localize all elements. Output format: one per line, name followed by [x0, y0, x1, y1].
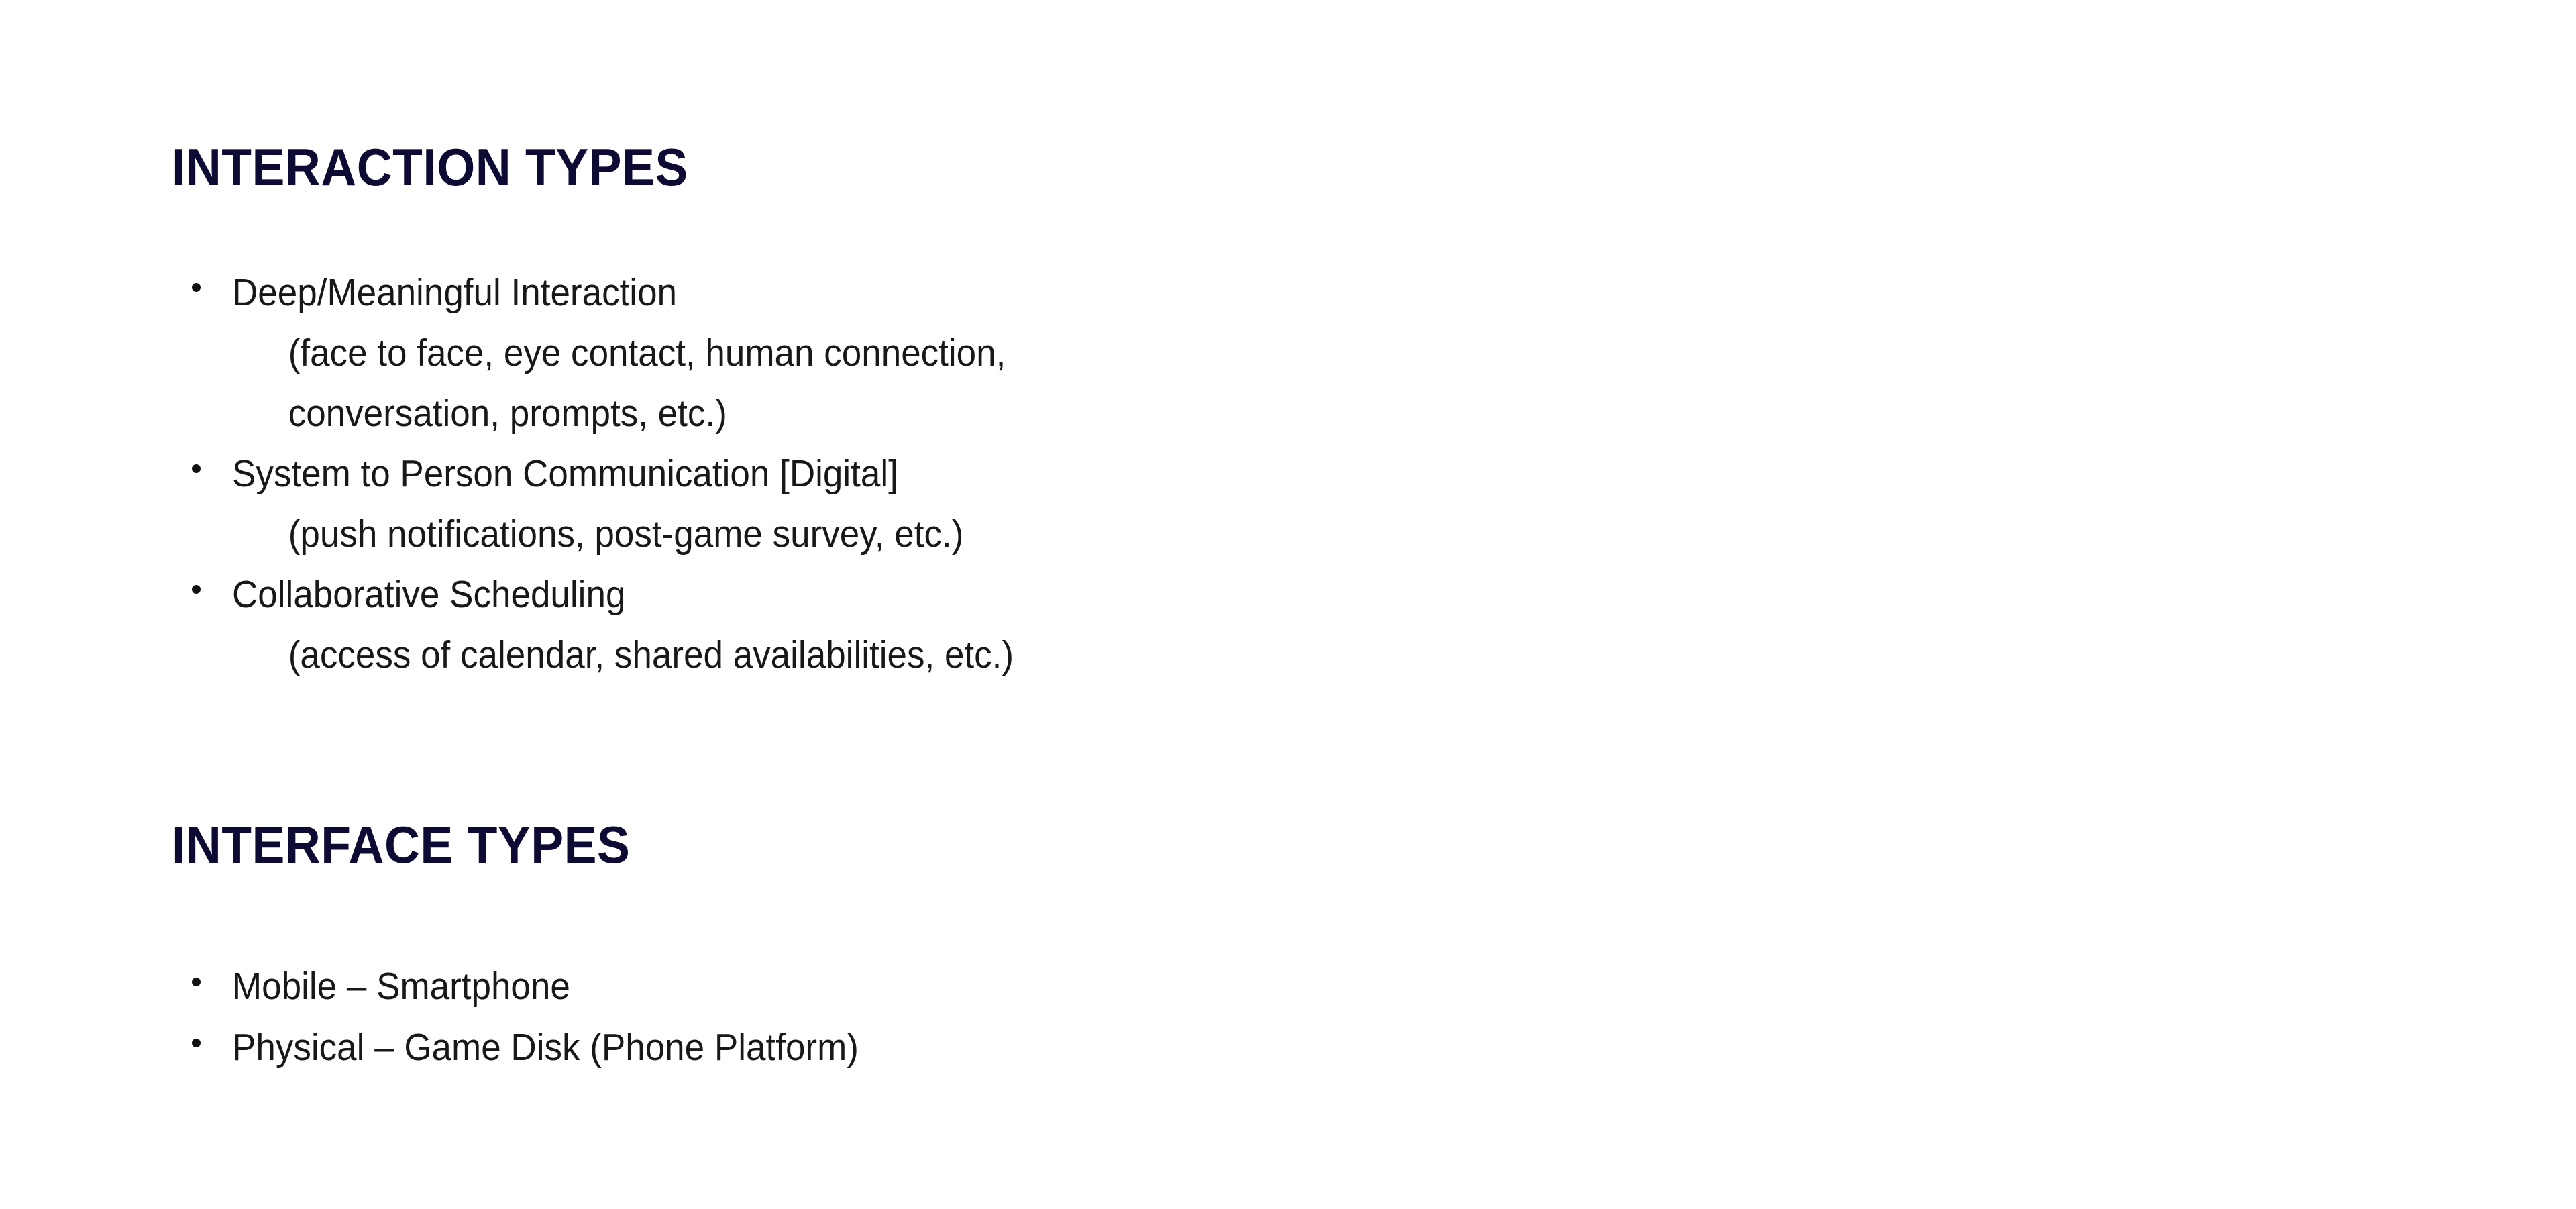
list-item-label: Physical – Game Disk (Phone Platform) [232, 1017, 859, 1078]
heading-interaction-types: INTERACTION TYPES [172, 142, 1018, 193]
list-item-detail: (face to face, eye contact, human connec… [232, 323, 1014, 383]
list-item: System to Person Communication [Digital]… [172, 443, 1073, 564]
list-item-detail: (push notifications, post-game survey, e… [232, 504, 1014, 564]
bullet-dot-icon [192, 585, 201, 594]
bullet-dot-icon [192, 1039, 201, 1047]
list-item: Collaborative Scheduling (access of cale… [172, 564, 1073, 685]
list-item: Deep/Meaningful Interaction (face to fac… [172, 262, 1073, 443]
heading-interface-types: INTERFACE TYPES [172, 820, 862, 870]
section-interaction-types: INTERACTION TYPES Deep/Meaningful Intera… [172, 142, 1073, 685]
bullet-list-interaction-types: Deep/Meaningful Interaction (face to fac… [172, 262, 1073, 685]
bullet-list-interface-types: Mobile – Smartphone Physical – Game Disk… [172, 956, 906, 1078]
list-item-label: System to Person Communication [Digital] [232, 443, 1014, 504]
slide-canvas: INTERACTION TYPES Deep/Meaningful Intera… [0, 0, 2576, 1209]
bullet-dot-icon [192, 283, 201, 292]
list-item-label: Collaborative Scheduling [232, 564, 1014, 625]
list-item-label: Deep/Meaningful Interaction [232, 262, 1014, 323]
list-item-detail: conversation, prompts, etc.) [232, 383, 1014, 443]
bullet-dot-icon [192, 464, 201, 473]
list-item: Mobile – Smartphone [172, 956, 906, 1017]
list-item-detail: (access of calendar, shared availabiliti… [232, 625, 1014, 685]
bullet-dot-icon [192, 978, 201, 986]
section-interface-types: INTERFACE TYPES Mobile – Smartphone Phys… [172, 820, 906, 1078]
list-item: Physical – Game Disk (Phone Platform) [172, 1017, 906, 1078]
list-item-label: Mobile – Smartphone [232, 956, 859, 1017]
